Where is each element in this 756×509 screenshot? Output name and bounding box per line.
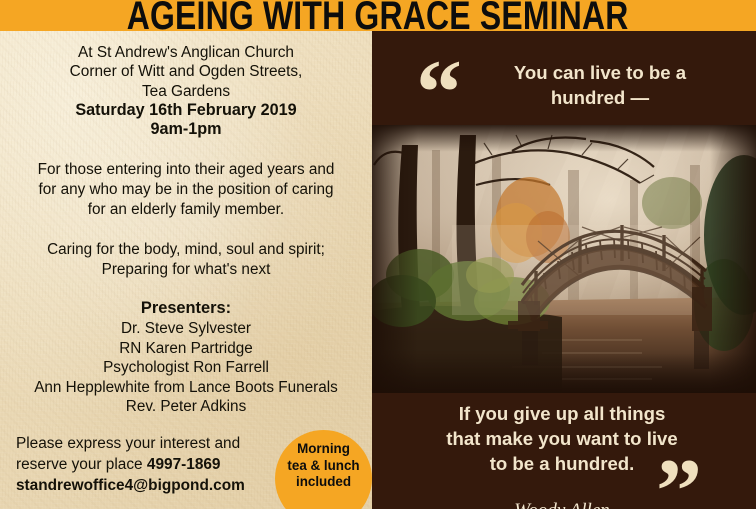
topics-line-1: Caring for the body, mind, soul and spir…	[14, 240, 358, 260]
event-time: 9am-1pm	[14, 120, 358, 139]
morning-tea-badge: Morning tea & lunch included	[275, 430, 372, 509]
contact-instruction: Please express your interest and	[16, 433, 286, 454]
venue-street: Corner of Witt and Ogden Streets,	[14, 62, 358, 81]
quote-bottom-line-1: If you give up all things	[412, 401, 712, 426]
contact-phone-number[interactable]: 4997-1869	[147, 456, 221, 473]
contact-phone-line: reserve your place 4997-1869	[16, 454, 286, 475]
presenter-item: Psychologist Ron Farrell	[14, 358, 358, 378]
description-line-3: for an elderly family member.	[14, 200, 358, 220]
badge-text: Morning tea & lunch included	[277, 441, 371, 491]
topics-line-2: Preparing for what's next	[14, 260, 358, 280]
bridge-photo-illustration	[372, 125, 756, 393]
event-date: Saturday 16th February 2019	[14, 101, 358, 120]
badge-line-2: tea & lunch	[277, 458, 371, 475]
venue-town: Tea Gardens	[14, 82, 358, 101]
quote-attribution: Woody Allen	[412, 500, 712, 509]
description-line-1: For those entering into their aged years…	[14, 160, 358, 180]
venue-church: At St Andrew's Anglican Church	[14, 43, 358, 62]
badge-line-3: included	[277, 474, 371, 491]
quote-top-line-1: You can live to be a	[464, 60, 736, 85]
description-block: For those entering into their aged years…	[14, 160, 358, 220]
presenter-item: Ann Hepplewhite from Lance Boots Funeral…	[14, 378, 358, 398]
right-quote-panel: “ You can live to be a hundred —	[372, 31, 756, 509]
header-band: AGEING WITH GRACE SEMINAR	[0, 0, 756, 31]
venue-block: At St Andrew's Anglican Church Corner of…	[14, 43, 358, 139]
page-title: AGEING WITH GRACE SEMINAR	[127, 0, 629, 31]
presenter-item: Rev. Peter Adkins	[14, 397, 358, 417]
quote-top-block: “ You can live to be a hundred —	[372, 31, 756, 125]
presenter-item: Dr. Steve Sylvester	[14, 319, 358, 339]
presenters-heading: Presenters:	[14, 299, 358, 319]
description-line-2: for any who may be in the position of ca…	[14, 180, 358, 200]
bridge-photo	[372, 125, 756, 393]
presenter-item: RN Karen Partridge	[14, 339, 358, 359]
contact-block: Please express your interest and reserve…	[14, 433, 286, 496]
contact-email[interactable]: standrewoffice4@bigpond.com	[16, 475, 286, 496]
quote-top-text: You can live to be a hundred —	[464, 60, 736, 110]
quote-top-line-2: hundred —	[464, 85, 736, 110]
badge-line-1: Morning	[277, 441, 371, 458]
presenters-block: Presenters: Dr. Steve Sylvester RN Karen…	[14, 299, 358, 417]
quote-bottom-block: If you give up all things that make you …	[372, 393, 756, 509]
topics-block: Caring for the body, mind, soul and spir…	[14, 240, 358, 280]
contact-phone-prefix: reserve your place	[16, 456, 147, 473]
